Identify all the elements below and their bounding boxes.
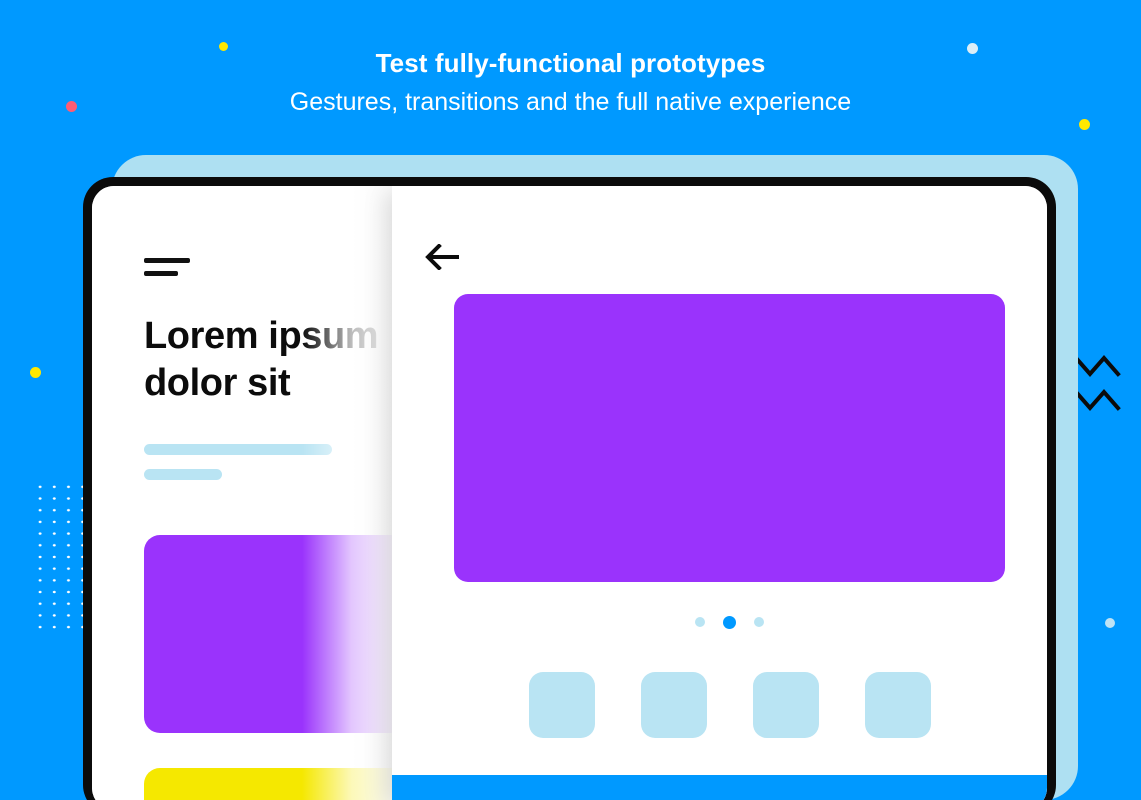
tab-tiles-row (454, 670, 1005, 740)
skeleton-bar-short (144, 469, 222, 480)
skeleton-bar-long (144, 444, 332, 455)
pink-dot-top-left (66, 101, 77, 112)
back-arrow-icon[interactable] (425, 244, 461, 270)
yellow-dot-right (1079, 119, 1090, 130)
yellow-dot-top-left (219, 42, 228, 51)
hero-media[interactable] (454, 294, 1005, 582)
tab-tile-3[interactable] (753, 672, 819, 738)
detail-screen (392, 186, 1047, 800)
device-mockup: Lorem ipsum dolor sit (83, 155, 1078, 800)
headline-block: Test fully-functional prototypes Gesture… (0, 48, 1141, 118)
detail-bottom-band (392, 775, 1047, 800)
promo-stage: Test fully-functional prototypes Gesture… (0, 0, 1141, 800)
tab-tile-4[interactable] (865, 672, 931, 738)
pagination-dot-3[interactable] (754, 617, 764, 627)
dot-grid-pattern (33, 481, 89, 633)
yellow-dot-mid-left (30, 367, 41, 378)
pagination-dot-2-active[interactable] (723, 616, 736, 629)
tab-tile-2[interactable] (641, 672, 707, 738)
hamburger-bar-top (144, 258, 190, 263)
tab-tile-1[interactable] (529, 672, 595, 738)
hamburger-bar-bottom (144, 271, 178, 276)
zigzag-lines (1074, 348, 1141, 416)
pagination-dot-1[interactable] (695, 617, 705, 627)
device-screen: Lorem ipsum dolor sit (92, 186, 1047, 800)
hamburger-menu-icon[interactable] (144, 258, 190, 278)
page-subtitle: Gestures, transitions and the full nativ… (0, 87, 1141, 118)
white-dot-top-right (967, 43, 978, 54)
light-dot-bottom-right (1105, 618, 1115, 628)
device-frame: Lorem ipsum dolor sit (83, 177, 1056, 800)
base-list-screen: Lorem ipsum dolor sit (92, 186, 392, 800)
pagination-dots (454, 614, 1005, 630)
